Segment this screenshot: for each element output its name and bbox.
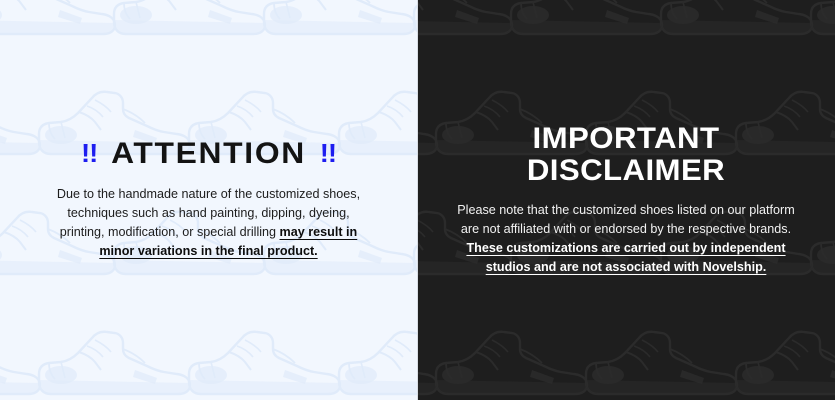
double-exclamation-right-icon: !!: [320, 140, 336, 166]
disclaimer-title: IMPORTANT DISCLAIMER: [446, 123, 806, 187]
attention-panel: !! ATTENTION !! Due to the handmade natu…: [0, 0, 417, 400]
disclaimer-title-line-2: DISCLAIMER: [446, 155, 806, 187]
disclaimer-body-plain: Please note that the customized shoes li…: [457, 203, 794, 236]
attention-content: !! ATTENTION !! Due to the handmade natu…: [0, 139, 417, 262]
disclaimer-body: Please note that the customized shoes li…: [453, 201, 799, 277]
disclaimer-panel: IMPORTANT DISCLAIMER Please note that th…: [417, 0, 835, 400]
disclaimer-content: IMPORTANT DISCLAIMER Please note that th…: [417, 123, 835, 276]
double-exclamation-left-icon: !!: [81, 140, 97, 166]
attention-title-text: ATTENTION: [111, 139, 306, 169]
disclaimer-body-emphasis: These customizations are carried out by …: [466, 241, 785, 274]
attention-body: Due to the handmade nature of the custom…: [46, 185, 371, 262]
attention-title: !! ATTENTION !!: [36, 139, 381, 169]
attention-disclaimer-banner: !! ATTENTION !! Due to the handmade natu…: [0, 0, 835, 400]
disclaimer-title-line-1: IMPORTANT: [446, 123, 806, 155]
panel-divider: [417, 0, 418, 400]
